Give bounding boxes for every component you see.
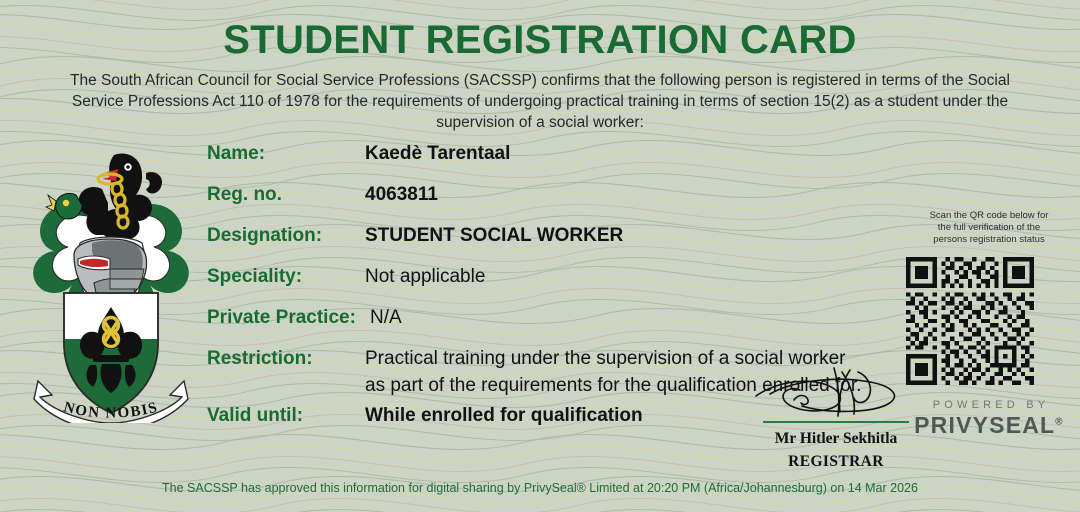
privyseal-branding: POWERED BY PRIVYSEAL® [906,399,1072,439]
reg-no-label: Reg. no. [207,184,282,206]
intro-paragraph: The South African Council for Social Ser… [30,70,1050,133]
speciality-label: Speciality: [207,266,302,288]
signature-underline [763,421,909,423]
private-practice-label: Private Practice: [207,307,356,329]
qr-caption-line-2: the full verification of the [906,222,1072,234]
speciality-value: Not applicable [365,266,485,288]
name-value: Kaedè Tarentaal [365,143,510,165]
valid-until-label: Valid until: [207,405,303,427]
field-row-name: Name: Kaedè Tarentaal [207,143,907,175]
intro-line-1: The South African Council for Social Ser… [30,70,1050,91]
qr-caption-line-3: persons registration status [906,234,1072,246]
field-row-private-practice: Private Practice: N/A [207,307,907,339]
student-registration-card: STUDENT REGISTRATION CARD The South Afri… [0,0,1080,512]
field-row-designation: Designation: STUDENT SOCIAL WORKER [207,225,907,257]
designation-label: Designation: [207,225,322,247]
shield [64,293,158,413]
designation-value: STUDENT SOCIAL WORKER [365,225,623,247]
privyseal-name-text: PRIVYSEAL [914,412,1055,438]
page-title: STUDENT REGISTRATION CARD [0,18,1080,63]
qr-verification-panel: Scan the QR code below for the full veri… [906,210,1072,439]
field-row-speciality: Speciality: Not applicable [207,266,907,298]
intro-line-2: Service Professions Act 110 of 1978 for … [30,91,1050,112]
qr-caption: Scan the QR code below for the full veri… [906,210,1072,246]
registrar-signature [746,366,926,420]
valid-until-value: While enrolled for qualification [365,405,643,427]
privyseal-wordmark: PRIVYSEAL® [906,412,1072,439]
qr-code[interactable] [906,257,1034,385]
intro-line-3: supervision of a social worker: [30,112,1050,133]
powered-by-label: POWERED BY [906,399,1072,411]
private-practice-value: N/A [370,307,402,329]
registered-trademark-icon: ® [1055,416,1064,427]
sacssp-coat-of-arms-emblem: NON NOBIS [18,143,204,423]
name-label: Name: [207,143,265,165]
field-row-reg-no: Reg. no. 4063811 [207,184,907,216]
restriction-label: Restriction: [207,348,313,370]
reg-no-value: 4063811 [365,184,438,206]
approval-footer: The SACSSP has approved this information… [0,481,1080,495]
registrar-role: REGISTRAR [726,453,946,471]
qr-caption-line-1: Scan the QR code below for [906,210,1072,222]
